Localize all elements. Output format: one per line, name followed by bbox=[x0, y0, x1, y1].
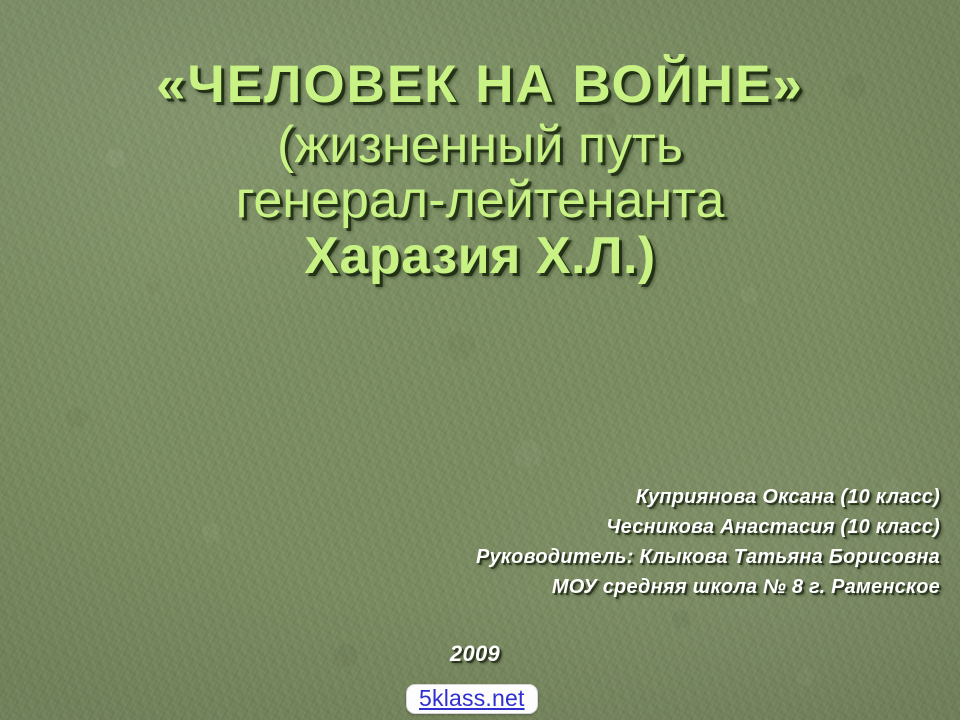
credits-block: Куприянова Оксана (10 класс) Чесникова А… bbox=[240, 482, 940, 602]
credit-line-student-1: Куприянова Оксана (10 класс) bbox=[240, 482, 940, 512]
title-line-2: (жизненный путь bbox=[0, 119, 960, 173]
title-line-4: Харазия Х.Л.) bbox=[0, 230, 960, 284]
credit-line-student-2: Чесникова Анастасия (10 класс) bbox=[240, 512, 940, 542]
title-line-1: «ЧЕЛОВЕК НА ВОЙНЕ» bbox=[0, 58, 960, 113]
watermark-link[interactable]: 5klass.net bbox=[419, 685, 525, 711]
year-block: 2009 bbox=[0, 641, 960, 667]
title-line-3: генерал-лейтенанта bbox=[0, 174, 960, 228]
presentation-slide: «ЧЕЛОВЕК НА ВОЙНЕ» (жизненный путь генер… bbox=[0, 0, 960, 720]
slide-title-block: «ЧЕЛОВЕК НА ВОЙНЕ» (жизненный путь генер… bbox=[0, 58, 960, 283]
presentation-year: 2009 bbox=[0, 641, 950, 667]
credit-line-supervisor: Руководитель: Клыкова Татьяна Борисовна bbox=[240, 542, 940, 572]
watermark-badge[interactable]: 5klass.net bbox=[406, 684, 538, 714]
credit-line-school: МОУ средняя школа № 8 г. Раменское bbox=[240, 572, 940, 602]
